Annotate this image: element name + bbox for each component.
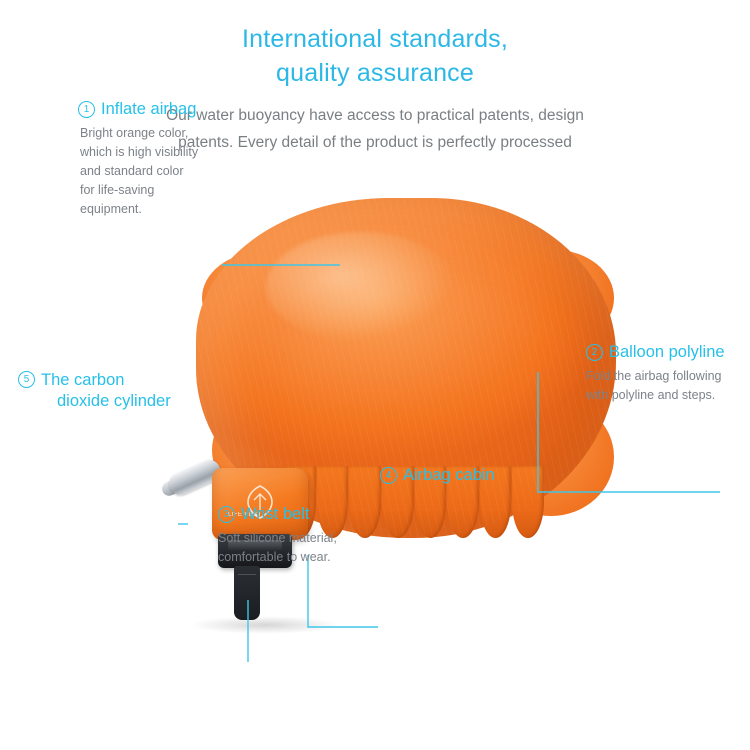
callout-1-description: Bright orange color, which is high visib… [80, 124, 220, 219]
callout-1-desc-line4: for life-saving [80, 181, 220, 200]
callout-4-number: 4 [380, 467, 397, 484]
callout-airbag-cabin: 4 Airbag cabin [380, 466, 530, 485]
callout-5-label-line2: dioxide cylinder [57, 390, 171, 412]
callout-1-title: 1 Inflate airbag [78, 100, 258, 119]
callout-2-desc-line1: Fold the airbag following [586, 367, 736, 386]
callout-carbon-dioxide-cylinder: 5 The carbon dioxide cylinder [18, 371, 188, 412]
page-title-line1: International standards, [242, 25, 508, 53]
product-shadow [190, 616, 340, 634]
product-infographic: International standards, quality assuran… [0, 0, 750, 750]
callout-2-description: Fold the airbag following with polyline … [586, 367, 736, 405]
callout-1-desc-line5: equipment. [80, 200, 220, 219]
callout-3-number: 3 [218, 506, 235, 523]
callout-5-label-line1: The carbon [41, 371, 124, 389]
callout-1-number: 1 [78, 101, 95, 118]
callout-3-label: Wrist belt [241, 505, 309, 524]
callout-wrist-belt: 3 Wrist belt Soft silicone material, com… [218, 505, 368, 567]
strap-seam [238, 574, 256, 575]
callout-balloon-polyline: 2 Balloon polyline Fold the airbag follo… [586, 343, 736, 405]
callout-1-desc-line1: Bright orange color, [80, 124, 220, 143]
callout-inflate-airbag: 1 Inflate airbag Bright orange color, wh… [78, 100, 258, 219]
callout-2-title: 2 Balloon polyline [586, 343, 736, 362]
callout-1-label: Inflate airbag [101, 100, 196, 119]
callout-4-label: Airbag cabin [403, 466, 495, 485]
page-title: International standards, quality assuran… [0, 22, 750, 90]
callout-1-desc-line3: and standard color [80, 162, 220, 181]
callout-1-desc-line2: which is high visibility [80, 143, 220, 162]
callout-3-title: 3 Wrist belt [218, 505, 368, 524]
callout-2-label: Balloon polyline [609, 343, 725, 362]
callout-3-description: Soft silicone material, comfortable to w… [218, 529, 368, 567]
callout-5-label: The carbon dioxide cylinder [41, 371, 171, 412]
callout-5-number: 5 [18, 371, 35, 388]
wrist-strap [234, 566, 260, 620]
callout-2-number: 2 [586, 344, 603, 361]
product-image: LIFE VEST [0, 150, 750, 690]
callout-2-desc-line2: with polyline and steps. [586, 386, 736, 405]
page-title-line2: quality assurance [0, 56, 750, 90]
airbag-highlight [266, 232, 456, 342]
callout-4-title: 4 Airbag cabin [380, 466, 530, 485]
callout-3-desc-line1: Soft silicone material, [218, 529, 368, 548]
callout-5-title: 5 The carbon dioxide cylinder [18, 371, 188, 412]
callout-3-desc-line2: comfortable to wear. [218, 548, 368, 567]
